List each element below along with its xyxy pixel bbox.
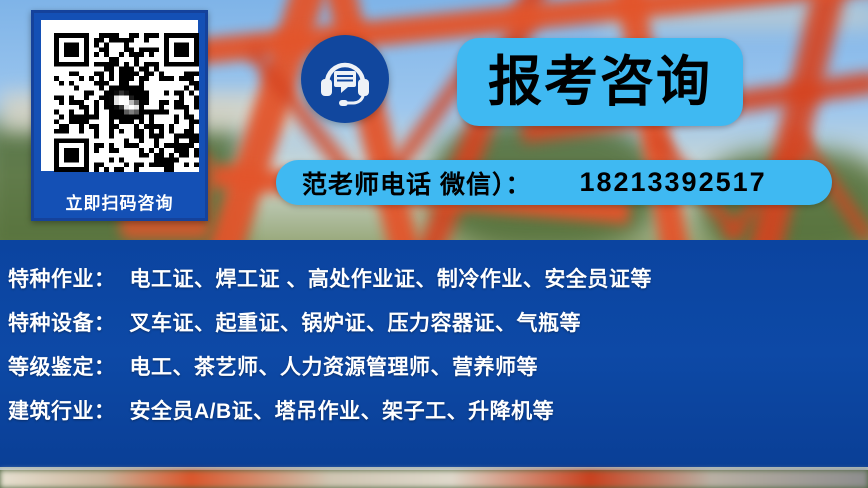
certificate-row-value: 安全员A/B证、塔吊作业、架子工、升降机等 — [130, 395, 555, 425]
promo-banner: 立即扫码咨询 报考咨询 范老师电话 微信）： 18213392517 特种作业：… — [0, 0, 868, 488]
contact-phone-number[interactable]: 18213392517 — [579, 167, 766, 198]
qr-card-caption: 立即扫码咨询 — [34, 189, 205, 214]
certificate-row-label: 等级鉴定： — [8, 351, 116, 381]
certificate-row-label: 特种作业： — [8, 263, 116, 293]
certificate-row-label: 特种设备： — [8, 307, 116, 337]
certificate-list-rows: 特种作业：电工证、焊工证 、高处作业证、制冷作业、安全员证等特种设备：叉车证、起… — [0, 240, 868, 432]
certificate-row-label: 建筑行业： — [8, 395, 116, 425]
certificate-row: 特种设备：叉车证、起重证、锅炉证、压力容器证、气瓶等 — [0, 300, 868, 344]
qr-code-card[interactable]: 立即扫码咨询 — [31, 10, 208, 221]
certificate-list-panel: 特种作业：电工证、焊工证 、高处作业证、制冷作业、安全员证等特种设备：叉车证、起… — [0, 240, 868, 467]
certificate-row: 建筑行业：安全员A/B证、塔吊作业、架子工、升降机等 — [0, 388, 868, 432]
certificate-row: 等级鉴定：电工、茶艺师、人力资源管理师、营养师等 — [0, 344, 868, 388]
title-pill-label: 报考咨询 — [488, 55, 712, 109]
contact-label: 范老师电话 微信）： — [302, 165, 531, 201]
title-pill[interactable]: 报考咨询 — [457, 38, 743, 126]
contact-phone-pill[interactable]: 范老师电话 微信）： 18213392517 — [276, 160, 832, 205]
qr-code-image — [54, 33, 199, 172]
certificate-row-value: 叉车证、起重证、锅炉证、压力容器证、气瓶等 — [130, 307, 582, 337]
headset-chat-badge — [301, 35, 389, 123]
certificate-row-value: 电工证、焊工证 、高处作业证、制冷作业、安全员证等 — [130, 263, 652, 293]
certificate-row-value: 电工、茶艺师、人力资源管理师、营养师等 — [130, 351, 539, 381]
certificate-row: 特种作业：电工证、焊工证 、高处作业证、制冷作业、安全员证等 — [0, 256, 868, 300]
bottom-photo-strip — [0, 470, 868, 488]
headset-chat-icon — [317, 51, 373, 107]
qr-code-white-area — [41, 20, 198, 171]
